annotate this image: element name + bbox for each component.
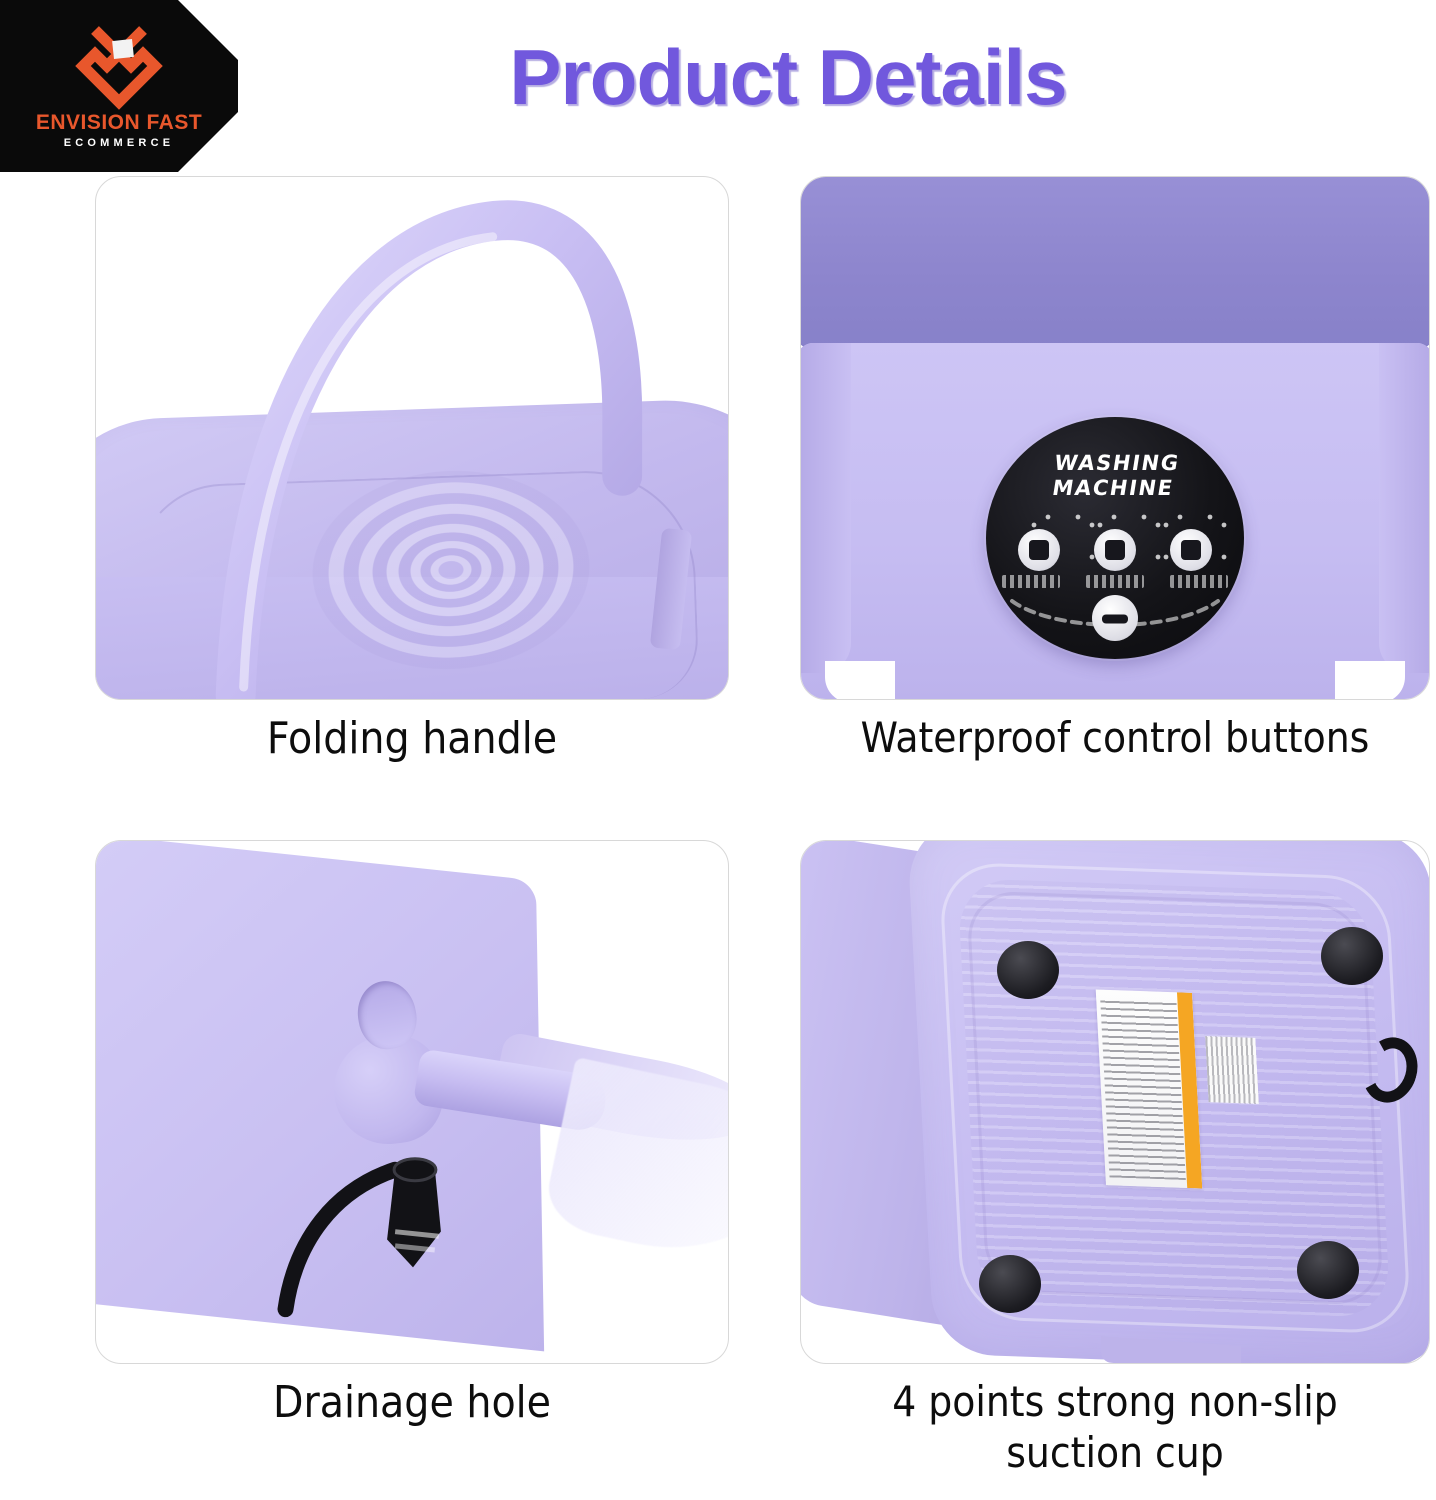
suction-cup-bottom-right bbox=[1297, 1241, 1359, 1299]
drain-mode-button[interactable] bbox=[1170, 529, 1212, 571]
suction-cup-bottom-left bbox=[979, 1255, 1041, 1313]
panel-caption: 4 points strong non-slip suction cup bbox=[760, 1376, 1436, 1478]
spin-mode-button[interactable] bbox=[1094, 529, 1136, 571]
product-photo-drainage-hole bbox=[95, 840, 729, 1364]
rating-label bbox=[1096, 989, 1203, 1188]
detail-panel-suction-cups: 4 points strong non-slip suction cup bbox=[800, 840, 1430, 1364]
panel-caption: Folding handle bbox=[55, 712, 769, 766]
power-button[interactable] bbox=[1092, 595, 1138, 641]
suction-cup-top-right bbox=[1321, 927, 1383, 985]
detail-panel-folding-handle: Folding handle bbox=[95, 176, 729, 700]
control-panel[interactable]: WASHING MACHINE bbox=[986, 417, 1244, 659]
drain-mode-label bbox=[1170, 575, 1228, 588]
control-button-row bbox=[986, 529, 1244, 571]
control-button-labels bbox=[986, 575, 1244, 588]
body-bottom-right-notch bbox=[1335, 661, 1405, 700]
page-title: Product Details bbox=[238, 38, 1338, 116]
qr-code-sticker bbox=[1205, 1036, 1259, 1104]
panel-caption: Drainage hole bbox=[55, 1376, 769, 1430]
body-bottom-left-notch bbox=[825, 661, 895, 700]
detail-panel-control-buttons: WASHING MACHINE bbox=[800, 176, 1430, 700]
brand-name: ENVISION FAST bbox=[36, 112, 202, 133]
wash-mode-label bbox=[1002, 575, 1060, 588]
product-photo-folding-handle bbox=[95, 176, 729, 700]
detail-panel-drainage-hole: Drainage hole bbox=[95, 840, 729, 1364]
folding-handle-icon bbox=[96, 177, 728, 699]
brand-subtitle: ECOMMERCE bbox=[64, 138, 175, 149]
chevron-logo-icon bbox=[65, 24, 173, 110]
product-detail-grid: Folding handle WASHING MACHINE bbox=[0, 172, 1436, 1500]
product-photo-control-buttons: WASHING MACHINE bbox=[800, 176, 1430, 700]
brand-badge: ENVISION FAST ECOMMERCE bbox=[0, 0, 238, 172]
panel-caption: Waterproof control buttons bbox=[760, 712, 1436, 763]
suction-cup-top-left bbox=[997, 941, 1059, 999]
drain-hose-clip-icon bbox=[96, 841, 728, 1363]
machine-lid bbox=[800, 176, 1430, 349]
product-photo-suction-cups bbox=[800, 840, 1430, 1364]
wash-mode-button[interactable] bbox=[1018, 529, 1060, 571]
machine-body-left-edge bbox=[800, 343, 851, 673]
spin-mode-label bbox=[1086, 575, 1144, 588]
machine-body-right-edge bbox=[1379, 343, 1430, 673]
